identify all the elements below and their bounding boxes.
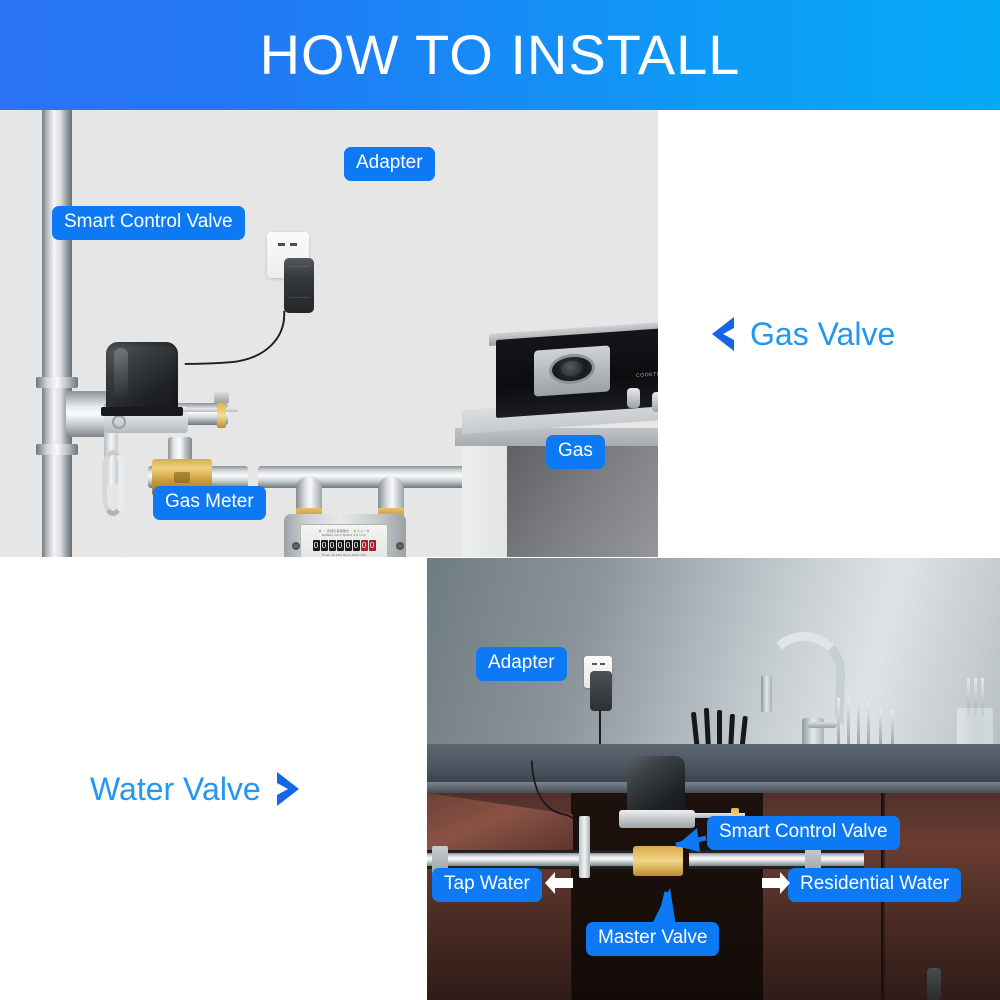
arrow-left-icon (545, 872, 575, 894)
chevron-left-icon (710, 317, 736, 351)
callout-gas-valve[interactable]: Gas Valve (710, 317, 895, 351)
callout-water-valve-label: Water Valve (90, 773, 261, 805)
label-master-valve[interactable]: Master Valve (586, 922, 719, 956)
label-gas-meter[interactable]: Gas Meter (153, 486, 266, 520)
label-adapter-water[interactable]: Adapter (476, 647, 567, 681)
label-residential-water[interactable]: Residential Water (788, 868, 961, 902)
label-adapter-gas[interactable]: Adapter (344, 147, 435, 181)
label-leader-lines (0, 0, 1000, 1000)
label-smart-control-valve-water[interactable]: Smart Control Valve (707, 816, 900, 850)
label-gas[interactable]: Gas (546, 435, 605, 469)
label-tap-water[interactable]: Tap Water (432, 868, 542, 902)
label-smart-control-valve-gas[interactable]: Smart Control Valve (52, 206, 245, 240)
arrow-right-icon (760, 872, 790, 894)
callout-gas-valve-label: Gas Valve (750, 318, 895, 350)
chevron-right-icon (275, 772, 301, 806)
callout-water-valve[interactable]: Water Valve (90, 772, 301, 806)
how-to-install-infographic: HOW TO INSTALL (0, 0, 1000, 1000)
